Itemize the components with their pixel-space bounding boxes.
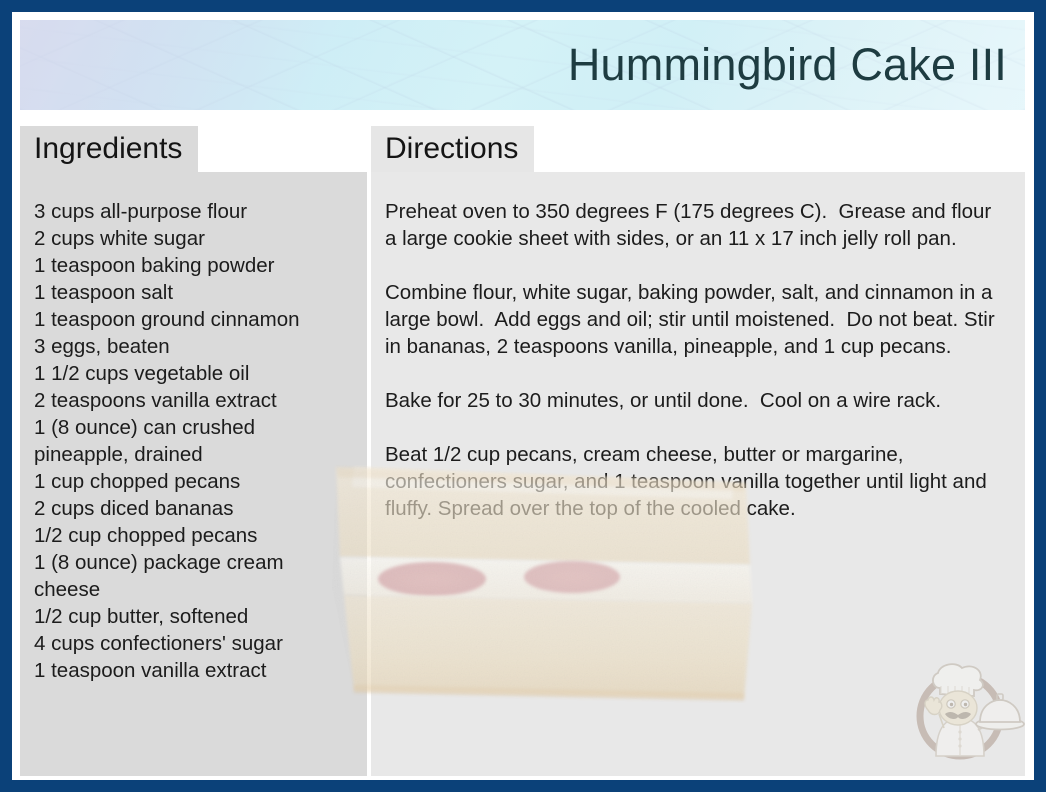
- ingredient-item: 3 eggs, beaten: [34, 333, 353, 360]
- header-banner: Hummingbird Cake III: [20, 20, 1025, 110]
- ingredient-item: 2 cups diced bananas: [34, 495, 353, 522]
- directions-heading: Directions: [385, 134, 518, 164]
- ingredient-item: 3 cups all-purpose flour: [34, 198, 353, 225]
- ingredient-item: 1 teaspoon ground cinnamon: [34, 306, 353, 333]
- ingredients-panel: Ingredients 3 cups all-purpose flour2 cu…: [20, 126, 367, 776]
- direction-step: Combine flour, white sugar, baking powde…: [385, 279, 1007, 360]
- direction-step: Beat 1/2 cup pecans, cream cheese, butte…: [385, 441, 1007, 522]
- ingredient-item: 1 cup chopped pecans: [34, 468, 353, 495]
- ingredients-tab: Ingredients: [20, 126, 198, 172]
- direction-steps: Preheat oven to 350 degrees F (175 degre…: [385, 198, 1007, 522]
- ingredient-item: 1 teaspoon baking powder: [34, 252, 353, 279]
- ingredients-panel-body: 3 cups all-purpose flour2 cups white sug…: [20, 172, 367, 776]
- content-panels: Ingredients 3 cups all-purpose flour2 cu…: [20, 126, 1025, 776]
- ingredient-item: 1 (8 ounce) can crushed pineapple, drain…: [34, 414, 353, 468]
- directions-panel: Directions Preheat oven to 350 degrees F…: [371, 126, 1025, 776]
- ingredients-heading: Ingredients: [34, 134, 182, 164]
- ingredient-item: 2 cups white sugar: [34, 225, 353, 252]
- card-inner: Hummingbird Cake III Ingredients 3 cups …: [12, 12, 1034, 780]
- ingredient-item: 1 teaspoon salt: [34, 279, 353, 306]
- ingredient-item: 1/2 cup butter, softened: [34, 603, 353, 630]
- ingredient-item: 1 1/2 cups vegetable oil: [34, 360, 353, 387]
- ingredient-list: 3 cups all-purpose flour2 cups white sug…: [34, 198, 353, 684]
- ingredient-item: 1 (8 ounce) package cream cheese: [34, 549, 353, 603]
- recipe-card: Hummingbird Cake III Ingredients 3 cups …: [0, 0, 1046, 792]
- directions-panel-body: Preheat oven to 350 degrees F (175 degre…: [371, 172, 1025, 776]
- ingredient-item: 1/2 cup chopped pecans: [34, 522, 353, 549]
- ingredient-item: 2 teaspoons vanilla extract: [34, 387, 353, 414]
- ingredient-item: 4 cups confectioners' sugar: [34, 630, 353, 657]
- directions-tab: Directions: [371, 126, 534, 172]
- direction-step: Bake for 25 to 30 minutes, or until done…: [385, 387, 1007, 414]
- ingredient-item: 1 teaspoon vanilla extract: [34, 657, 353, 684]
- direction-step: Preheat oven to 350 degrees F (175 degre…: [385, 198, 1007, 252]
- page-title: Hummingbird Cake III: [568, 39, 1007, 91]
